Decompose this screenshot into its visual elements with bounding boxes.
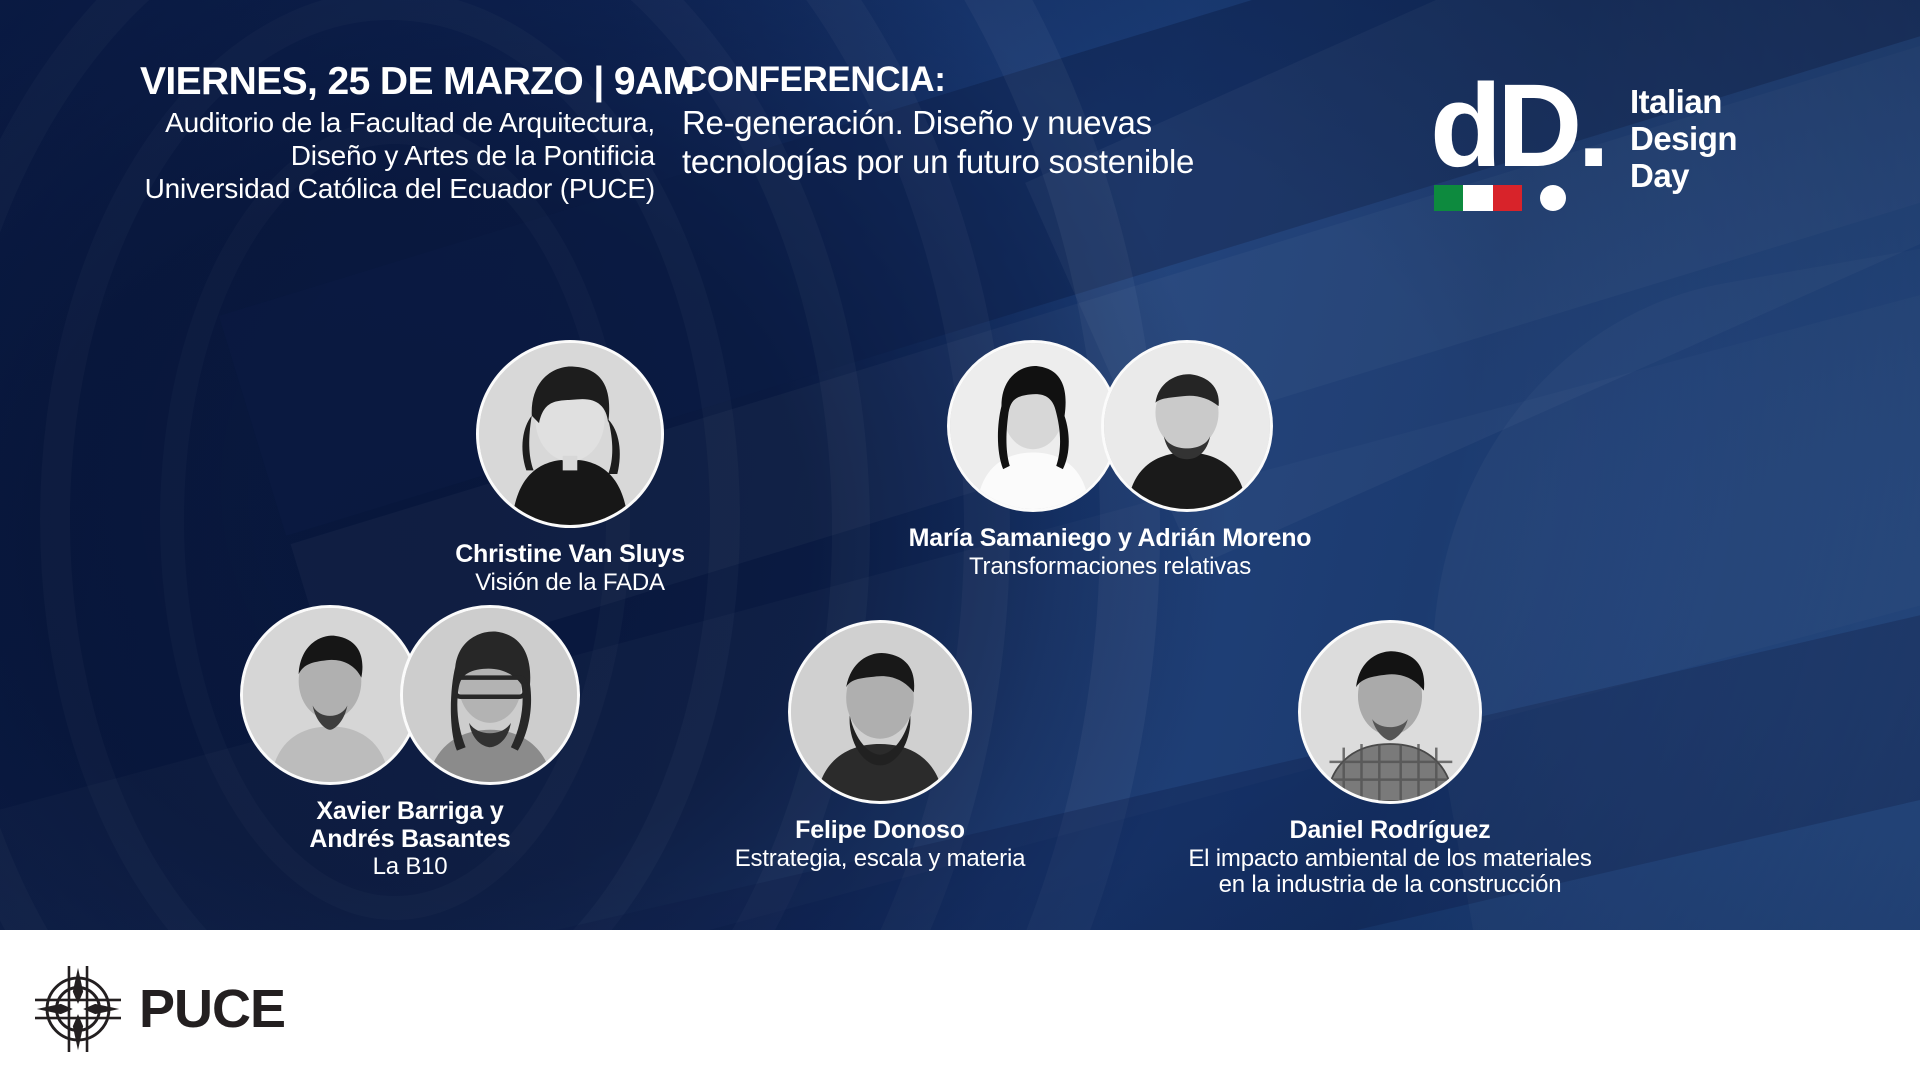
- speaker-portraits: [390, 340, 750, 528]
- speaker-name: Felipe Donoso: [660, 817, 1100, 845]
- idd-word-italian: Italian: [1630, 84, 1737, 121]
- avatar: [1298, 620, 1482, 804]
- portrait-illustration: [403, 608, 577, 782]
- idd-wordmark: Italian Design Day: [1630, 84, 1737, 195]
- speaker-name: Christine Van Sluys: [390, 541, 750, 569]
- event-datetime-block: VIERNES, 25 DE MARZO | 9AM Auditorio de …: [0, 62, 655, 205]
- portrait-illustration: [791, 623, 969, 801]
- idd-word-day: Day: [1630, 158, 1737, 195]
- speaker-name: María Samaniego y Adrián Moreno: [860, 525, 1360, 553]
- speaker-card: Daniel Rodríguez El impacto ambiental de…: [1130, 620, 1650, 899]
- speaker-topic: La B10: [200, 854, 620, 881]
- portrait-illustration: [950, 343, 1116, 509]
- italian-flag-icon: [1434, 185, 1522, 211]
- idd-word-design: Design: [1630, 121, 1737, 158]
- portrait-illustration: [1301, 623, 1479, 801]
- conference-block: CONFERENCIA: Re-generación. Diseño y nue…: [682, 62, 1202, 182]
- portrait-illustration: [243, 608, 417, 782]
- italian-design-day-logo: dD. Italian Design Day: [1430, 76, 1737, 211]
- sponsor-footer: PUCE Ambasciata d'Italia Quito #VIVERE A…: [0, 930, 1920, 1080]
- avatar: [240, 605, 420, 785]
- puce-logo: PUCE: [35, 966, 285, 1052]
- speaker-topic: El impacto ambiental de los materiales e…: [1130, 846, 1650, 900]
- puce-wordmark: PUCE: [139, 978, 285, 1040]
- dd-monogram: dD.: [1430, 76, 1620, 177]
- event-date: VIERNES, 25 DE MARZO | 9AM: [140, 62, 655, 101]
- speaker-card: Felipe Donoso Estrategia, escala y mater…: [660, 620, 1100, 872]
- portrait-illustration: [1104, 343, 1270, 509]
- avatar: [476, 340, 664, 528]
- speaker-card: María Samaniego y Adrián Moreno Transfor…: [860, 340, 1360, 580]
- avatar: [1101, 340, 1273, 512]
- idd-mark: dD.: [1430, 76, 1620, 211]
- speaker-name: Daniel Rodríguez: [1130, 817, 1650, 845]
- conference-title: Re-generación. Diseño y nuevas tecnologí…: [682, 103, 1202, 182]
- avatar: [400, 605, 580, 785]
- event-venue: Auditorio de la Facultad de Arquitectura…: [140, 107, 655, 205]
- speaker-card: Christine Van Sluys Visión de la FADA: [390, 340, 750, 596]
- portrait-illustration: [479, 343, 661, 525]
- speaker-card: Xavier Barriga y Andrés Basantes La B10: [200, 605, 620, 881]
- avatar: [947, 340, 1119, 512]
- idd-dot-icon: [1540, 185, 1566, 211]
- speaker-portraits: [1130, 620, 1650, 804]
- speaker-portraits: [660, 620, 1100, 804]
- speaker-topic: Visión de la FADA: [390, 570, 750, 597]
- speaker-topic: Estrategia, escala y materia: [660, 846, 1100, 873]
- speaker-name: Xavier Barriga y Andrés Basantes: [200, 798, 620, 853]
- speaker-topic: Transformaciones relativas: [860, 554, 1360, 581]
- speaker-portraits: [860, 340, 1360, 512]
- speaker-portraits: [200, 605, 620, 785]
- avatar: [788, 620, 972, 804]
- puce-cross-icon: [35, 966, 121, 1052]
- conference-label: CONFERENCIA:: [682, 62, 1202, 99]
